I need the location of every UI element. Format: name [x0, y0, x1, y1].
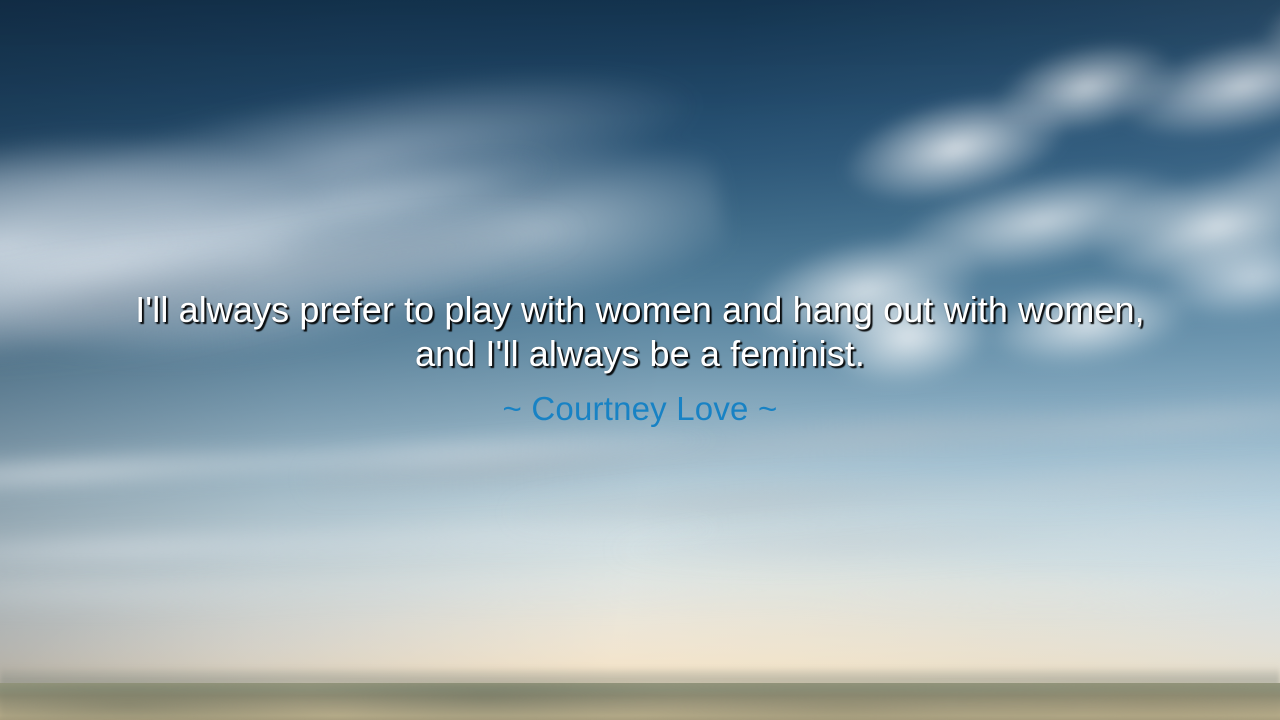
- quote-text: I'll always prefer to play with women an…: [40, 288, 1240, 376]
- quote-author: ~ Courtney Love ~: [40, 390, 1240, 428]
- quote-image-canvas: I'll always prefer to play with women an…: [0, 0, 1280, 720]
- quote-block: I'll always prefer to play with women an…: [0, 288, 1280, 428]
